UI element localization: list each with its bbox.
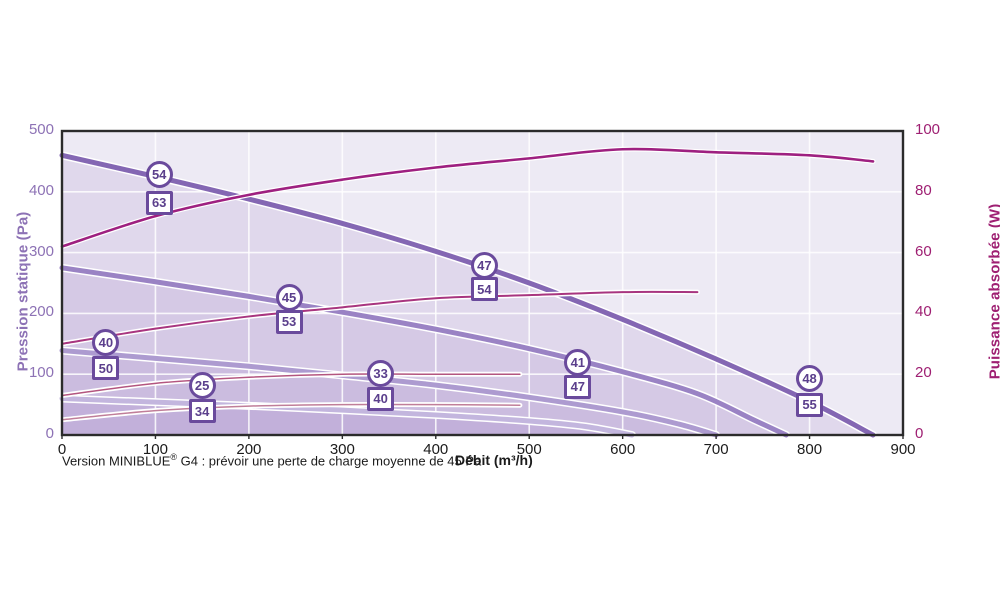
y-tick-left: 200 (8, 303, 54, 320)
y-tick-left: 400 (8, 182, 54, 199)
y-tick-right: 100 (915, 121, 961, 138)
y-tick-left: 300 (8, 243, 54, 260)
curve-marker-circle-54: 54 (146, 161, 173, 188)
curve-marker-square-53: 53 (276, 310, 303, 334)
curve-marker-square-34: 34 (189, 399, 216, 423)
curve-marker-circle-45: 45 (276, 284, 303, 311)
x-tick: 700 (686, 441, 746, 458)
y-tick-right: 40 (915, 303, 961, 320)
x-tick: 900 (873, 441, 933, 458)
x-tick: 0 (32, 441, 92, 458)
curve-marker-circle-25: 25 (189, 372, 216, 399)
plot-canvas (0, 0, 1000, 600)
y-tick-right: 0 (915, 425, 961, 442)
curve-marker-square-54: 54 (471, 277, 498, 301)
curve-marker-circle-48: 48 (796, 365, 823, 392)
curve-marker-square-63: 63 (146, 191, 173, 215)
y-tick-right: 60 (915, 243, 961, 260)
x-tick: 200 (219, 441, 279, 458)
curve-marker-square-40: 40 (367, 387, 394, 411)
x-tick: 500 (499, 441, 559, 458)
y-tick-left: 100 (8, 364, 54, 381)
y-tick-left: 0 (8, 425, 54, 442)
curve-marker-square-55: 55 (796, 393, 823, 417)
y-tick-right: 20 (915, 364, 961, 381)
y-tick-right: 80 (915, 182, 961, 199)
curve-marker-square-50: 50 (92, 356, 119, 380)
curve-marker-square-47: 47 (564, 375, 591, 399)
y-tick-left: 500 (8, 121, 54, 138)
x-tick: 600 (593, 441, 653, 458)
x-tick: 100 (125, 441, 185, 458)
x-tick: 300 (312, 441, 372, 458)
fan-performance-chart: Pression statique (Pa) Puissance absorbé… (0, 0, 1000, 600)
x-tick: 400 (406, 441, 466, 458)
x-tick: 800 (780, 441, 840, 458)
